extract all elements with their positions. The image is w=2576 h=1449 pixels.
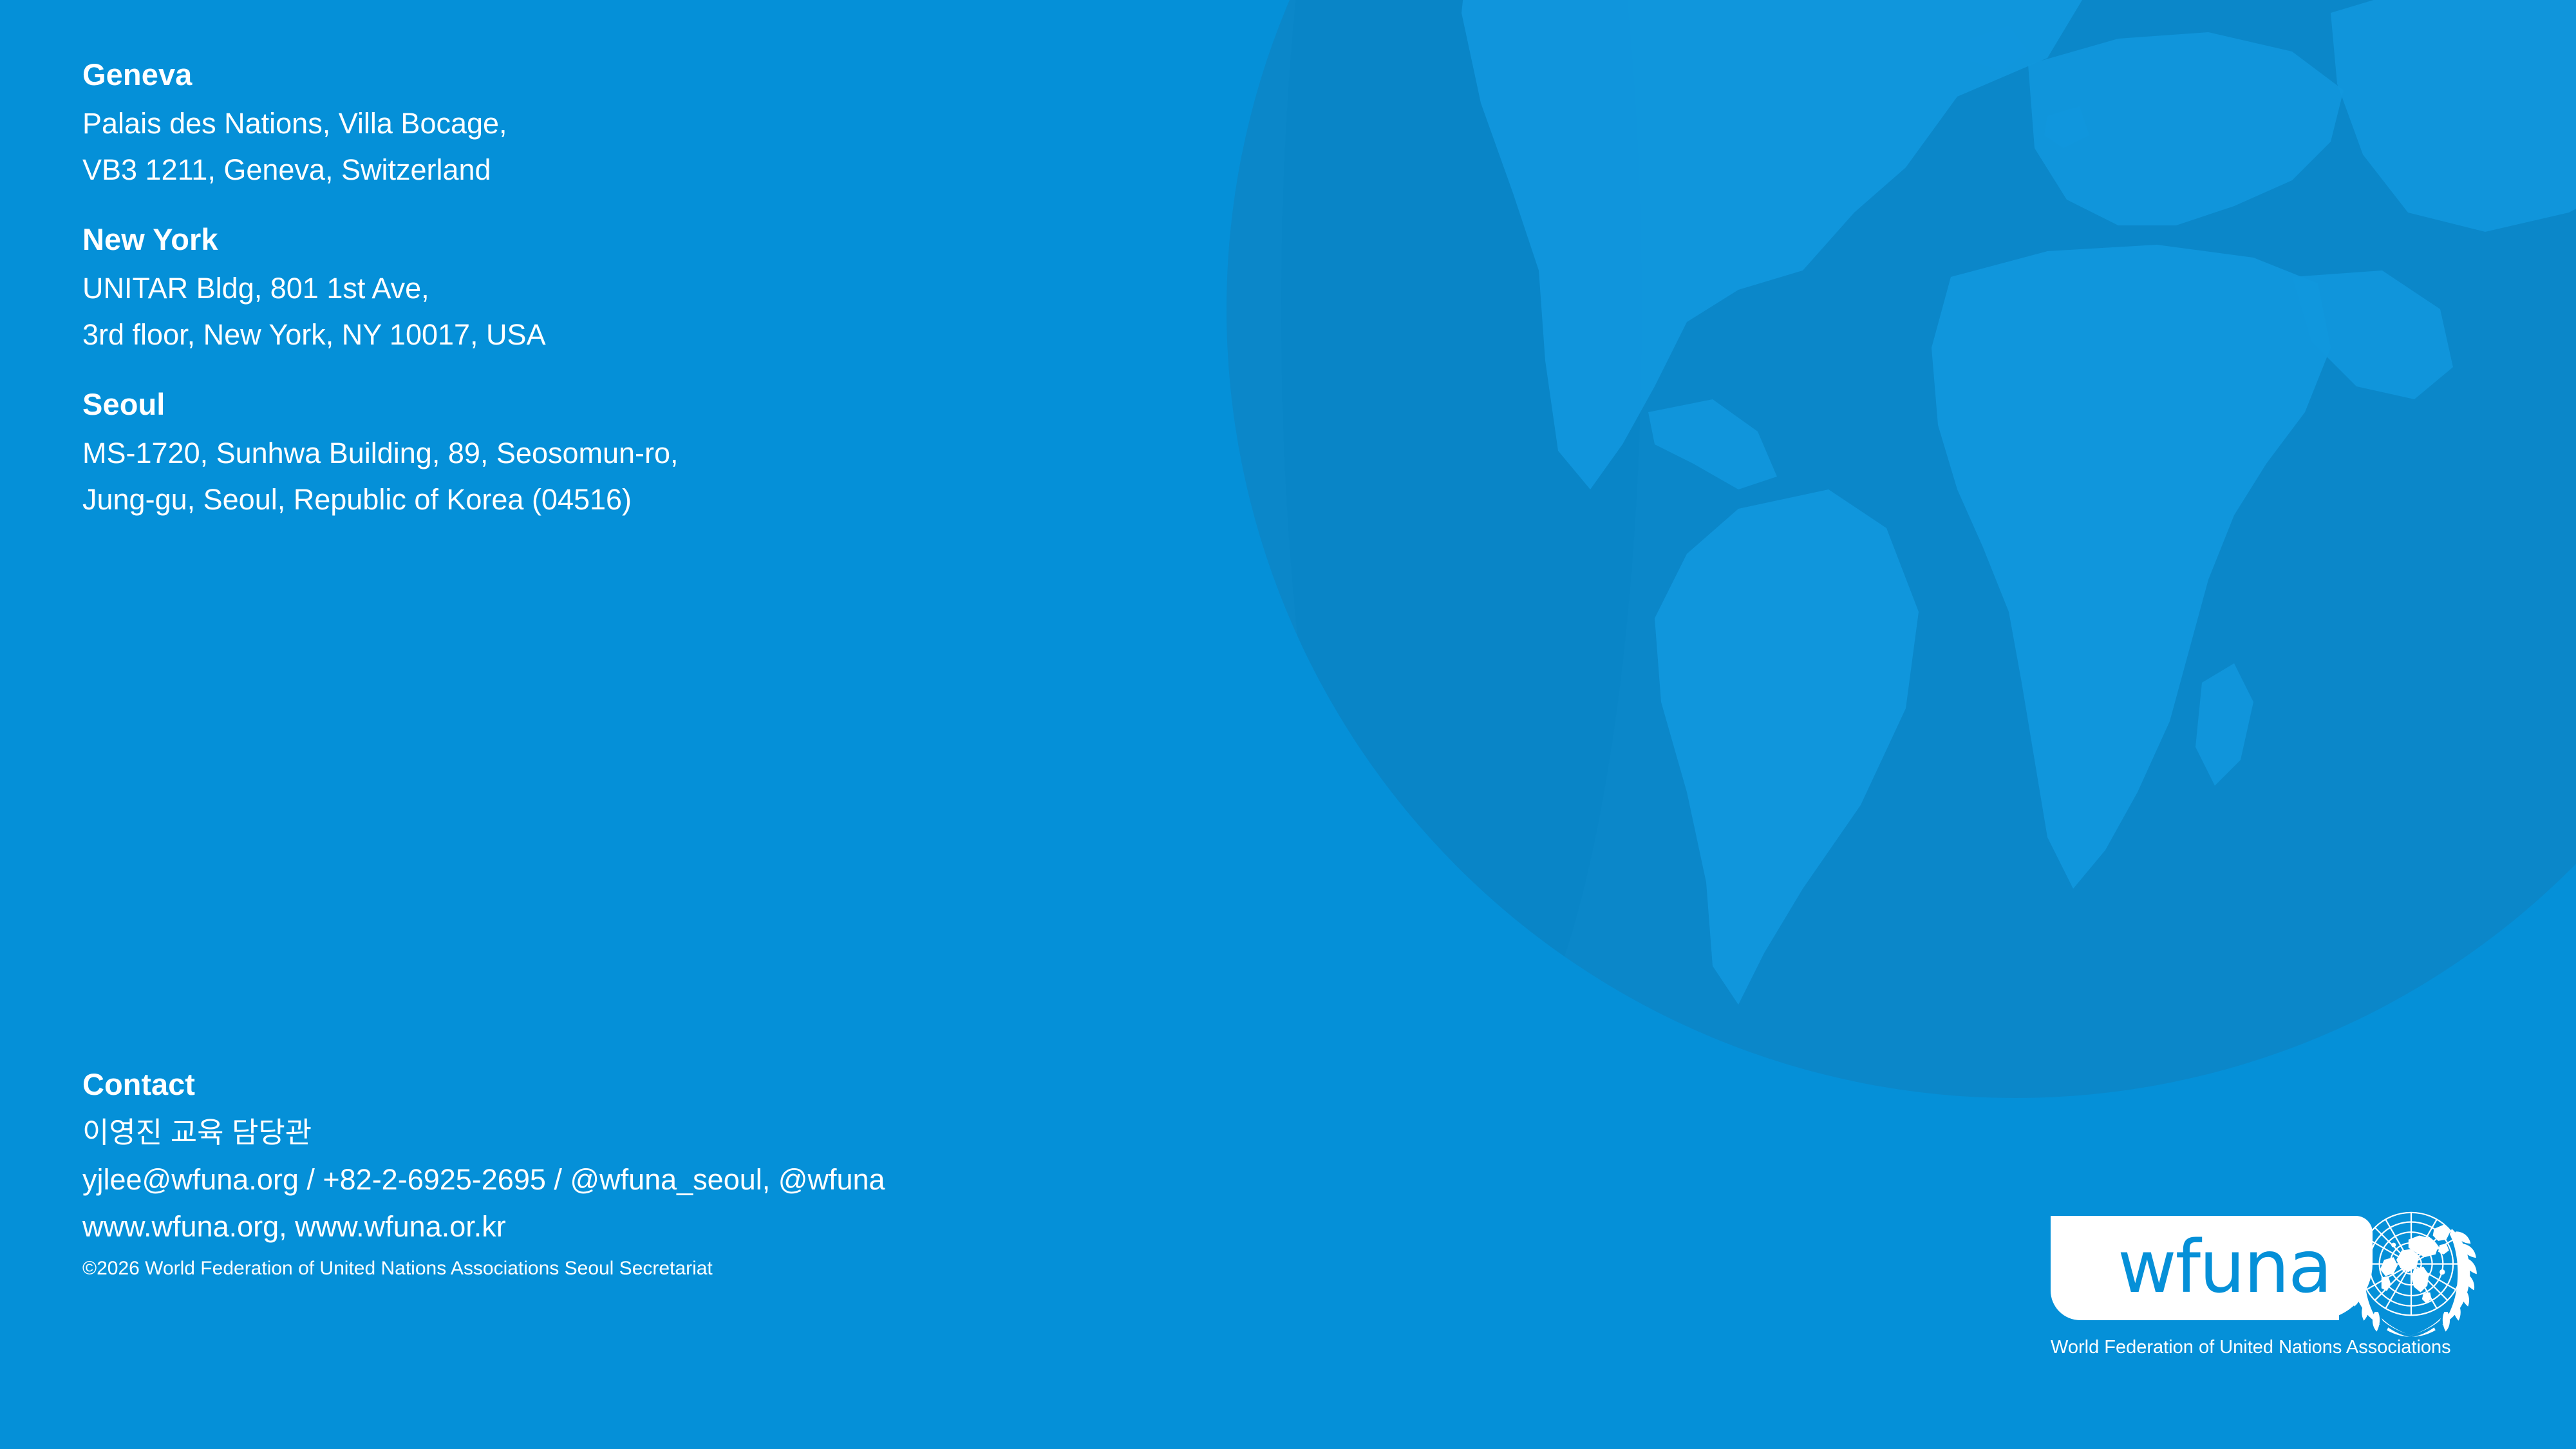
contact-channels[interactable]: yjlee@wfuna.org / +82-2-6925-2695 / @wfu… — [82, 1165, 885, 1194]
landmass-south-america — [1655, 489, 1919, 1005]
landmass-asia — [2331, 0, 2576, 232]
contact-person-name: 이영진 교육 담당관 — [82, 1118, 885, 1147]
copyright-notice: ©2026 World Federation of United Nations… — [82, 1259, 885, 1278]
wfuna-logo-mark: wfuna — [2051, 1211, 2501, 1327]
un-emblem-icon — [2344, 1202, 2479, 1337]
office-block-seoul: Seoul MS-1720, Sunhwa Building, 89, Seos… — [82, 389, 679, 514]
office-address-line: VB3 1211, Geneva, Switzerland — [82, 155, 679, 184]
contact-heading: Contact — [82, 1069, 885, 1099]
landmass-europe — [2028, 32, 2344, 225]
office-block-geneva: Geneva Palais des Nations, Villa Bocage,… — [82, 59, 679, 184]
office-address-line: Palais des Nations, Villa Bocage, — [82, 109, 679, 138]
landmass-arabia — [2292, 270, 2453, 399]
office-name-new-york: New York — [82, 224, 679, 254]
globe-limb-shade — [1281, 0, 1642, 1098]
office-address-line: MS-1720, Sunhwa Building, 89, Seosomun-r… — [82, 439, 679, 468]
contact-block: Contact 이영진 교육 담당관 yjlee@wfuna.org / +82… — [82, 1069, 885, 1278]
wfuna-logo: wfuna — [2051, 1211, 2514, 1357]
landmass-central-america — [1648, 399, 1777, 489]
globe-sphere — [1227, 0, 2576, 1098]
office-address-line: UNITAR Bldg, 801 1st Ave, — [82, 274, 679, 303]
landmass-madagascar — [2195, 663, 2253, 786]
landmass-africa — [1932, 245, 2331, 889]
landmass-north-america — [1462, 0, 2086, 489]
office-name-seoul: Seoul — [82, 389, 679, 419]
landmass-british-isles — [2044, 106, 2089, 148]
office-address-line: 3rd floor, New York, NY 10017, USA — [82, 320, 679, 349]
contact-websites[interactable]: www.wfuna.org, www.wfuna.or.kr — [82, 1212, 885, 1241]
office-name-geneva: Geneva — [82, 59, 679, 90]
wfuna-tagline: World Federation of United Nations Assoc… — [2051, 1338, 2514, 1357]
landmass-iceland — [1970, 26, 2028, 71]
office-block-new-york: New York UNITAR Bldg, 801 1st Ave, 3rd f… — [82, 224, 679, 349]
emblem-stems — [2382, 1318, 2441, 1337]
office-address-line: Jung-gu, Seoul, Republic of Korea (04516… — [82, 485, 679, 514]
office-addresses: Geneva Palais des Nations, Villa Bocage,… — [82, 59, 679, 554]
wfuna-wordmark: wfuna — [2118, 1231, 2331, 1303]
